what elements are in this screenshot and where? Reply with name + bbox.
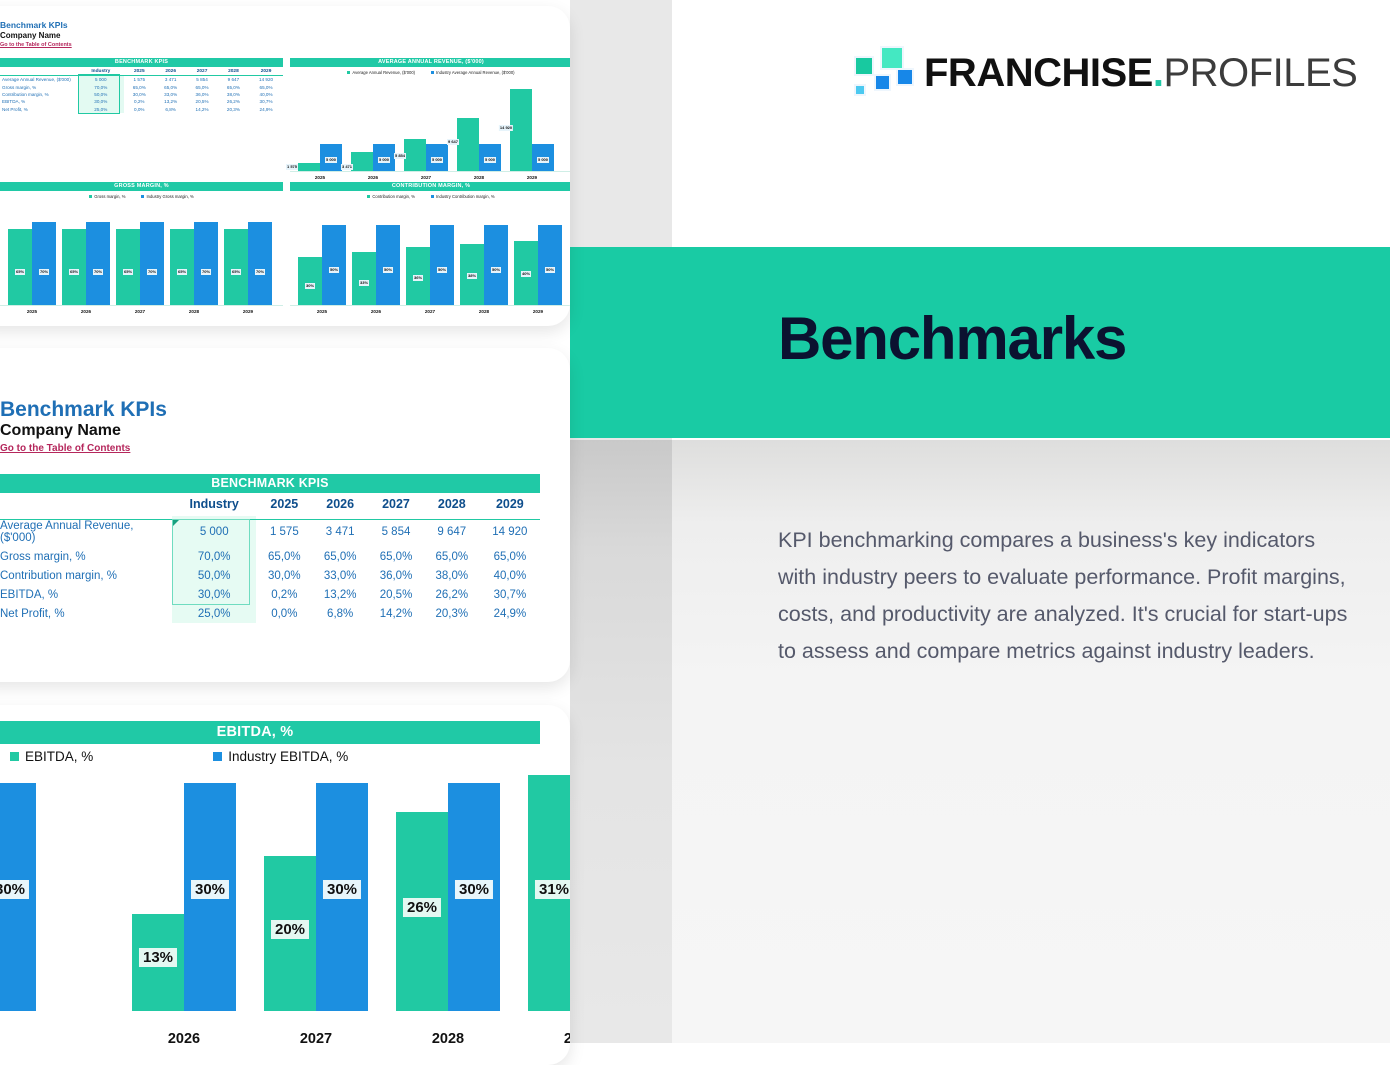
legend-swatch-series-icon bbox=[347, 71, 350, 74]
cell-2028: 38,0% bbox=[218, 91, 249, 98]
overview-sheet-title: Benchmark KPIs bbox=[0, 20, 72, 30]
cell-industry: 30,0% bbox=[78, 98, 124, 105]
legend-swatch-industry-icon bbox=[431, 195, 434, 198]
cell-2026: 33,0% bbox=[312, 566, 368, 585]
cell-2026: 65,0% bbox=[155, 83, 186, 90]
axis-tick-label: 2027 bbox=[406, 309, 454, 314]
chart-title: CONTRIBUTION MARGIN, % bbox=[290, 182, 570, 191]
kpi-grid: Industry 2025 2026 2027 2028 2029 Averag… bbox=[0, 493, 540, 623]
col-2027: 2027 bbox=[186, 67, 217, 76]
axis-tick-label: 2028 bbox=[396, 1031, 500, 1047]
cell-2025: 30,0% bbox=[256, 566, 312, 585]
ebitda-chart-legend: EBITDA, % Industry EBITDA, % bbox=[10, 749, 430, 764]
row-label: Gross margin, % bbox=[0, 547, 172, 566]
logo-square-teal bbox=[854, 56, 874, 76]
bar-group: 13% 30% bbox=[132, 783, 236, 1011]
logo-word-profiles: PROFILES bbox=[1163, 51, 1357, 95]
bar-group: 65%70% bbox=[62, 222, 110, 305]
bar-value-label: 70% bbox=[201, 269, 211, 275]
bar-value-label: 5 000 bbox=[484, 157, 496, 163]
cell-2028: 65,0% bbox=[218, 83, 249, 90]
cell-2028: 65,0% bbox=[424, 547, 480, 566]
bar-group: 38%50% bbox=[460, 225, 508, 305]
legend-label: Average Annual Revenue, ($'000) bbox=[352, 70, 415, 75]
col-2029: 2029 bbox=[480, 493, 540, 516]
axis-tick-label: 2026 bbox=[62, 309, 110, 314]
row-label: Net Profit, % bbox=[0, 604, 172, 623]
col-2027: 2027 bbox=[368, 493, 424, 516]
cell-2029: 30,7% bbox=[249, 98, 283, 105]
axis-tick-label: 2028 bbox=[170, 309, 218, 314]
bar-value-label: 1 575 bbox=[286, 164, 298, 170]
cell-2026: 13,2% bbox=[312, 585, 368, 604]
overview-sheet-header: Benchmark KPIs Company Name Go to the Ta… bbox=[0, 20, 72, 48]
bar-group: 20% 30% bbox=[264, 783, 368, 1011]
axis-tick-label: 2029 bbox=[514, 309, 562, 314]
axis-tick-label: 2025 bbox=[298, 175, 342, 180]
overview-company-name: Company Name bbox=[0, 31, 72, 40]
cell-2028: 9 647 bbox=[218, 76, 249, 84]
bar-industry-ebitda: 30% bbox=[184, 783, 236, 1011]
cell-2028: 38,0% bbox=[424, 566, 480, 585]
axis-tick-label: 2026 bbox=[132, 1031, 236, 1047]
bar-value-label: 5 000 bbox=[325, 157, 337, 163]
table-row: Net Profit, % 25,0% 0,0% 6,8% 14,2% 20,3… bbox=[0, 604, 540, 623]
legend-swatch-industry-icon bbox=[431, 71, 434, 74]
chart-plot-area: 1 5755 000 3 4715 000 5 8545 000 9 6475 … bbox=[290, 78, 570, 180]
cell-2029: 24,9% bbox=[480, 604, 540, 623]
logo-word-franchise: FRANCHISE bbox=[924, 51, 1153, 95]
kpi-table: Industry 2025 2026 2027 2028 2029 Averag… bbox=[0, 493, 540, 623]
chart-legend: Average Annual Revenue, ($'000) Industry… bbox=[290, 70, 570, 75]
cell-2027: 14,2% bbox=[368, 604, 424, 623]
row-label: Net Profit, % bbox=[0, 106, 78, 113]
legend-entry-series: EBITDA, % bbox=[10, 749, 93, 764]
legend-swatch-industry-icon bbox=[141, 195, 144, 198]
table-row: Gross margin, % 70,0% 65,0% 65,0% 65,0% … bbox=[0, 547, 540, 566]
bar-value-label: 14 920 bbox=[499, 125, 513, 131]
slide-card-overview: Benchmark KPIs Company Name Go to the Ta… bbox=[0, 6, 570, 326]
bar-group: 31% 30% bbox=[528, 775, 570, 1011]
legend-swatch-ebitda-icon bbox=[10, 752, 19, 761]
logo-dot: . bbox=[1153, 51, 1164, 95]
cell-2029: 65,0% bbox=[249, 83, 283, 90]
ebitda-chart-title: EBITDA, % bbox=[0, 721, 540, 744]
table-row: Average Annual Revenue, ($'000) 5 000 1 … bbox=[0, 516, 540, 547]
cell-2029: 24,9% bbox=[249, 106, 283, 113]
cell-2025: 65,0% bbox=[256, 547, 312, 566]
col-industry: Industry bbox=[172, 493, 256, 516]
row-label: Contribution margin, % bbox=[0, 91, 78, 98]
cell-industry: 25,0% bbox=[78, 106, 124, 113]
bar-value-label: 65% bbox=[231, 269, 241, 275]
chart-title: GROSS MARGIN, % bbox=[0, 182, 283, 191]
legend-label: Industry Contribution margin, % bbox=[436, 194, 495, 199]
bar-value-label: 26% bbox=[403, 898, 441, 917]
table-row: Average Annual Revenue, ($'000) 5 000 1 … bbox=[0, 76, 283, 84]
axis-tick-label: 2025 bbox=[8, 309, 56, 314]
cell-2025: 1 575 bbox=[256, 516, 312, 547]
bar-value-label: 65% bbox=[69, 269, 79, 275]
slide-card-kpi-table: Benchmark KPIs Company Name Go to the Ta… bbox=[0, 348, 570, 682]
cell-2029: 30,7% bbox=[480, 585, 540, 604]
bar-value-label: 70% bbox=[147, 269, 157, 275]
overview-toc-link[interactable]: Go to the Table of Contents bbox=[0, 42, 72, 48]
bar-group: 65%70% bbox=[116, 222, 164, 305]
slide-card-ebitda-chart: EBITDA, % EBITDA, % Industry EBITDA, % 0… bbox=[0, 705, 570, 1065]
cell-2026: 65,0% bbox=[312, 547, 368, 566]
cell-2025: 0,0% bbox=[124, 106, 155, 113]
cell-2027: 5 854 bbox=[186, 76, 217, 84]
bar-industry-ebitda: 30% bbox=[448, 783, 500, 1011]
legend-swatch-series-icon bbox=[367, 195, 370, 198]
bar-group: 65%70% bbox=[224, 222, 272, 305]
brand-logo: FRANCHISE.PROFILES bbox=[852, 44, 1352, 106]
bar-value-label: 30% bbox=[191, 880, 229, 899]
cell-2026: 6,8% bbox=[312, 604, 368, 623]
cell-2029: 65,0% bbox=[480, 547, 540, 566]
bar-value-label: 65% bbox=[177, 269, 187, 275]
logo-square-blue-right bbox=[896, 68, 914, 86]
cell-2027: 5 854 bbox=[368, 516, 424, 547]
cell-2025: 0,0% bbox=[256, 604, 312, 623]
col-2029: 2029 bbox=[249, 67, 283, 76]
legend-label: EBITDA, % bbox=[25, 749, 93, 764]
bar-value-label: 30% bbox=[0, 880, 29, 899]
cell-2028: 20,3% bbox=[218, 106, 249, 113]
bar-value-label: 50% bbox=[329, 267, 339, 273]
bar-ebitda: 26% bbox=[396, 812, 448, 1011]
ebitda-plot-area: 0% 30% 13% 30% 20% 30% bbox=[0, 777, 540, 1057]
bar-value-label: 70% bbox=[93, 269, 103, 275]
row-label: Contribution margin, % bbox=[0, 566, 172, 585]
chart-title: AVERAGE ANNUAL REVENUE, ($'000) bbox=[290, 58, 570, 67]
cell-industry[interactable]: 25,0% bbox=[172, 604, 256, 623]
bar-group: 3 4715 000 bbox=[351, 144, 395, 171]
legend-swatch-industry-ebitda-icon bbox=[213, 752, 222, 761]
bar-group: 14 9205 000 bbox=[510, 89, 554, 171]
bar-value-label: 13% bbox=[139, 948, 177, 967]
axis-tick-label: 2026 bbox=[352, 309, 400, 314]
axis-tick-label: 2029 bbox=[510, 175, 554, 180]
legend-label: Gross margin, % bbox=[94, 194, 125, 199]
cell-2025: 1 575 bbox=[124, 76, 155, 84]
cell-industry: 50,0% bbox=[78, 91, 124, 98]
cell-2027: 36,0% bbox=[368, 566, 424, 585]
table-row: Contribution margin, % 50,0% 30,0% 33,0%… bbox=[0, 91, 283, 98]
bar-group: 40%50% bbox=[514, 225, 562, 305]
bar-value-label: 36% bbox=[413, 275, 423, 281]
cell-2029: 40,0% bbox=[249, 91, 283, 98]
bar-value-label: 65% bbox=[123, 269, 133, 275]
bar-value-label: 50% bbox=[491, 267, 501, 273]
table-row: EBITDA, % 30,0% 0,2% 13,2% 20,5% 26,2% 3… bbox=[0, 585, 540, 604]
col-2028: 2028 bbox=[218, 67, 249, 76]
axis-tick-label: 2026 bbox=[351, 175, 395, 180]
cell-2028: 9 647 bbox=[424, 516, 480, 547]
cell-2026: 33,0% bbox=[155, 91, 186, 98]
kpi-table-banner: BENCHMARK KPIS bbox=[0, 474, 540, 493]
cell-2025: 65,0% bbox=[124, 83, 155, 90]
cell-2029: 14 920 bbox=[480, 516, 540, 547]
axis-tick-label: 2029 bbox=[224, 309, 272, 314]
row-label: Average Annual Revenue, ($'000) bbox=[0, 516, 172, 547]
bar-group: 9 6475 000 bbox=[457, 118, 501, 171]
table-of-contents-link[interactable]: Go to the Table of Contents bbox=[0, 443, 130, 454]
bar-ebitda: 20% bbox=[264, 856, 316, 1011]
table-header-row: Industry 2025 2026 2027 2028 2029 bbox=[0, 67, 283, 76]
logo-square-cyan bbox=[854, 84, 866, 96]
axis-tick-label: 2027 bbox=[116, 309, 164, 314]
axis-tick-label: 2028 bbox=[457, 175, 501, 180]
overview-kpi-grid: Industry 2025 2026 2027 2028 2029 Averag… bbox=[0, 67, 283, 113]
bar-value-label: 5 000 bbox=[537, 157, 549, 163]
cell-2027: 65,0% bbox=[368, 547, 424, 566]
cell-2027: 14,2% bbox=[186, 106, 217, 113]
axis-tick-label: 2027 bbox=[404, 175, 448, 180]
chart-baseline bbox=[0, 305, 283, 306]
cell-2029: 40,0% bbox=[480, 566, 540, 585]
overview-chart-contribution-margin: CONTRIBUTION MARGIN, % Contribution marg… bbox=[290, 182, 570, 317]
chart-legend: Gross margin, % Industry Gross margin, % bbox=[0, 194, 283, 199]
chart-plot-area: 65%70% 65%70% 65%70% 65%70% 65%70% 2025 … bbox=[0, 202, 283, 314]
chart-plot-area: 30%50% 33%50% 36%50% 38%50% 40%50% 2025 … bbox=[290, 202, 570, 314]
legend-label: Industry Gross margin, % bbox=[146, 194, 193, 199]
axis-tick-label: 2027 bbox=[264, 1031, 368, 1047]
franchise-profiles-squares-logo-icon bbox=[852, 46, 914, 102]
col-industry: Industry bbox=[78, 67, 124, 76]
row-label: EBITDA, % bbox=[0, 585, 172, 604]
cell-comment-marker-icon bbox=[173, 520, 179, 526]
bar-industry-ebitda: 30% bbox=[316, 783, 368, 1011]
chart-baseline bbox=[290, 171, 570, 172]
col-blank bbox=[0, 67, 78, 76]
chart-legend: Contribution margin, % Industry Contribu… bbox=[290, 194, 570, 199]
company-name: Company Name bbox=[0, 422, 121, 440]
row-label: Gross margin, % bbox=[0, 83, 78, 90]
industry-column-selection[interactable] bbox=[172, 519, 250, 605]
logo-square-mint bbox=[880, 46, 904, 70]
bar-value-label: 31% bbox=[535, 880, 570, 899]
bar-value-label: 5 000 bbox=[378, 157, 390, 163]
legend-label: Industry EBITDA, % bbox=[228, 749, 348, 764]
bar-group: 5 8545 000 bbox=[404, 139, 448, 171]
col-2028: 2028 bbox=[424, 493, 480, 516]
cell-2028: 26,2% bbox=[218, 98, 249, 105]
legend-entry-industry: Industry EBITDA, % bbox=[213, 749, 348, 764]
col-2025: 2025 bbox=[124, 67, 155, 76]
cell-2027: 65,0% bbox=[186, 83, 217, 90]
bar-value-label: 33% bbox=[359, 280, 369, 286]
bar-ebitda: 13% bbox=[132, 914, 184, 1011]
overview-kpi-table: BENCHMARK KPIS Industry 2025 2026 2027 2… bbox=[0, 58, 283, 113]
cell-2029: 14 920 bbox=[249, 76, 283, 84]
overview-kpi-banner: BENCHMARK KPIS bbox=[0, 58, 283, 67]
brand-logo-text: FRANCHISE.PROFILES bbox=[924, 46, 1357, 100]
cell-2027: 20,5% bbox=[186, 98, 217, 105]
cell-2026: 3 471 bbox=[312, 516, 368, 547]
bar-value-label: 5 854 bbox=[394, 153, 406, 159]
overview-chart-revenue: AVERAGE ANNUAL REVENUE, ($'000) Average … bbox=[290, 58, 570, 180]
bar-value-label: 30% bbox=[323, 880, 361, 899]
legend-label: Contribution margin, % bbox=[372, 194, 415, 199]
hero-title: Benchmarks bbox=[778, 304, 1126, 373]
legend-label: Industry Average Annual Revenue, ($'000) bbox=[436, 70, 514, 75]
axis-tick-label: 2028 bbox=[460, 309, 508, 314]
cell-2028: 20,3% bbox=[424, 604, 480, 623]
bar-value-label: 65% bbox=[15, 269, 25, 275]
overview-chart-gross-margin: GROSS MARGIN, % Gross margin, % Industry… bbox=[0, 182, 283, 317]
cell-2026: 13,2% bbox=[155, 98, 186, 105]
col-2026: 2026 bbox=[155, 67, 186, 76]
bar-value-label: 30% bbox=[305, 283, 315, 289]
bar-group: 33%50% bbox=[352, 225, 400, 305]
row-label: EBITDA, % bbox=[0, 98, 78, 105]
cell-industry: 70,0% bbox=[78, 83, 124, 90]
bar-value-label: 50% bbox=[437, 267, 447, 273]
table-row: Net Profit, % 25,0% 0,0% 6,8% 14,2% 20,3… bbox=[0, 106, 283, 113]
col-2026: 2026 bbox=[312, 493, 368, 516]
table-header-row: Industry 2025 2026 2027 2028 2029 bbox=[0, 493, 540, 516]
bar-value-label: 3 471 bbox=[341, 164, 353, 170]
chart-baseline bbox=[290, 305, 570, 306]
bar-industry-ebitda: 30% bbox=[0, 783, 36, 1011]
table-row: EBITDA, % 30,0% 0,2% 13,2% 20,5% 26,2% 3… bbox=[0, 98, 283, 105]
background-lower-gradient-left bbox=[570, 440, 672, 1043]
hero-description: KPI benchmarking compares a business's k… bbox=[778, 522, 1356, 670]
legend-swatch-series-icon bbox=[89, 195, 92, 198]
axis-tick-label: 2025 bbox=[0, 1031, 36, 1047]
bar-group: 26% 30% bbox=[396, 783, 500, 1011]
bar-group: 0% 30% bbox=[0, 783, 36, 1011]
bar-group: 65%70% bbox=[8, 222, 56, 305]
bar-group: 1 5755 000 bbox=[298, 144, 342, 171]
cell-2025: 30,0% bbox=[124, 91, 155, 98]
cell-2026: 3 471 bbox=[155, 76, 186, 84]
bar-value-label: 40% bbox=[521, 271, 531, 277]
cell-2025: 0,2% bbox=[256, 585, 312, 604]
bar-ebitda: 31% bbox=[528, 775, 570, 1011]
table-row: Gross margin, % 70,0% 65,0% 65,0% 65,0% … bbox=[0, 83, 283, 90]
axis-tick-label: 2029 bbox=[528, 1031, 570, 1047]
logo-square-blue-mid bbox=[874, 74, 891, 91]
table-row: Contribution margin, % 50,0% 30,0% 33,0%… bbox=[0, 566, 540, 585]
bar-value-label: 30% bbox=[455, 880, 493, 899]
col-blank bbox=[0, 493, 172, 516]
cell-industry: 5 000 bbox=[78, 76, 124, 84]
cell-2027: 36,0% bbox=[186, 91, 217, 98]
bar-value-label: 50% bbox=[383, 267, 393, 273]
bar-group: 36%50% bbox=[406, 225, 454, 305]
bar-value-label: 70% bbox=[255, 269, 265, 275]
bar-group: 30%50% bbox=[298, 225, 346, 305]
bar-group: 65%70% bbox=[170, 222, 218, 305]
cell-2027: 20,5% bbox=[368, 585, 424, 604]
bar-value-label: 50% bbox=[545, 267, 555, 273]
bar-value-label: 20% bbox=[271, 920, 309, 939]
axis-tick-label: 2025 bbox=[298, 309, 346, 314]
cell-2025: 0,2% bbox=[124, 98, 155, 105]
table-header-rule bbox=[0, 519, 540, 520]
cell-2026: 6,8% bbox=[155, 106, 186, 113]
page-title: Benchmark KPIs bbox=[0, 398, 167, 422]
bar-value-label: 5 000 bbox=[431, 157, 443, 163]
cell-2028: 26,2% bbox=[424, 585, 480, 604]
bar-value-label: 38% bbox=[467, 273, 477, 279]
col-2025: 2025 bbox=[256, 493, 312, 516]
bar-value-label: 70% bbox=[39, 269, 49, 275]
row-label: Average Annual Revenue, ($'000) bbox=[0, 76, 78, 84]
bar-value-label: 9 647 bbox=[447, 139, 459, 145]
